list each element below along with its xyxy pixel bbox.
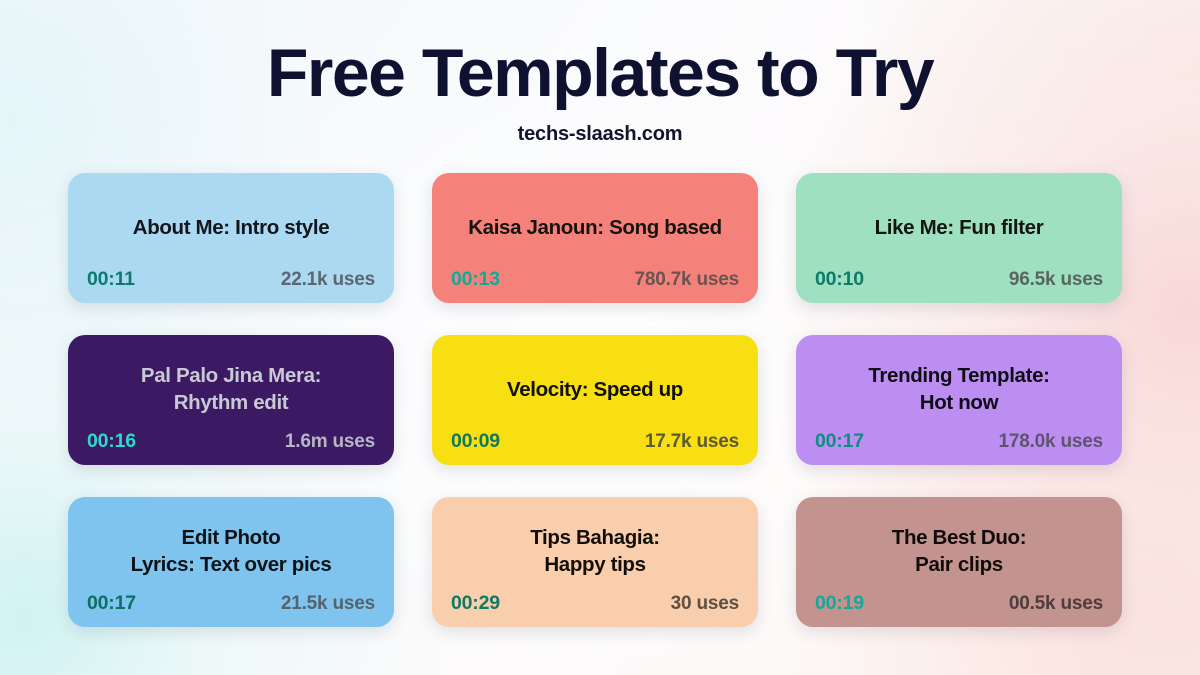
template-uses-count: 21.5k uses [281, 593, 375, 615]
template-card[interactable]: About Me: Intro style00:1122.1k uses [68, 173, 394, 303]
site-url-label: techs-slaash.com [0, 123, 1200, 146]
template-grid: About Me: Intro style00:1122.1k usesKais… [68, 173, 1132, 627]
template-card[interactable]: Tips Bahagia: Happy tips00:2930 uses [432, 497, 758, 627]
page-title: Free Templates to Try [0, 38, 1200, 109]
template-uses-count: 22.1k uses [281, 269, 375, 291]
template-uses-count: 96.5k uses [1009, 269, 1103, 291]
page-root: Free Templates to Try techs-slaash.com A… [0, 0, 1200, 675]
template-card[interactable]: Pal Palo Jina Mera: Rhythm edit00:161.6m… [68, 335, 394, 465]
template-duration: 00:19 [815, 592, 864, 615]
template-card-meta: 00:2930 uses [451, 592, 739, 615]
page-header: Free Templates to Try techs-slaash.com [0, 0, 1200, 146]
template-card-meta: 00:1122.1k uses [87, 268, 375, 291]
template-card-title: Trending Template: Hot now [815, 348, 1103, 430]
template-card-meta: 00:161.6m uses [87, 430, 375, 453]
template-duration: 00:13 [451, 268, 500, 291]
template-card-title: Like Me: Fun filter [815, 186, 1103, 268]
template-duration: 00:09 [451, 430, 500, 453]
template-uses-count: 780.7k uses [635, 269, 740, 291]
template-duration: 00:17 [815, 430, 864, 453]
template-uses-count: 17.7k uses [645, 431, 739, 453]
template-card-meta: 00:1096.5k uses [815, 268, 1103, 291]
template-card[interactable]: Trending Template: Hot now00:17178.0k us… [796, 335, 1122, 465]
template-uses-count: 00.5k uses [1009, 593, 1103, 615]
template-card-meta: 00:1721.5k uses [87, 592, 375, 615]
template-uses-count: 1.6m uses [285, 431, 375, 453]
template-card[interactable]: Kaisa Janoun: Song based00:13780.7k uses [432, 173, 758, 303]
template-uses-count: 178.0k uses [999, 431, 1104, 453]
template-card-meta: 00:17178.0k uses [815, 430, 1103, 453]
template-duration: 00:11 [87, 268, 135, 291]
template-card[interactable]: Like Me: Fun filter00:1096.5k uses [796, 173, 1122, 303]
template-card-title: Tips Bahagia: Happy tips [451, 510, 739, 592]
template-card-title: Edit Photo Lyrics: Text over pics [87, 510, 375, 592]
template-uses-count: 30 uses [671, 593, 739, 615]
template-card-meta: 00:0917.7k uses [451, 430, 739, 453]
template-duration: 00:17 [87, 592, 136, 615]
template-card-title: About Me: Intro style [87, 186, 375, 268]
template-card-meta: 00:1900.5k uses [815, 592, 1103, 615]
template-card-title: Velocity: Speed up [451, 348, 739, 430]
template-card[interactable]: The Best Duo: Pair clips00:1900.5k uses [796, 497, 1122, 627]
template-card[interactable]: Edit Photo Lyrics: Text over pics00:1721… [68, 497, 394, 627]
template-duration: 00:16 [87, 430, 136, 453]
template-duration: 00:29 [451, 592, 500, 615]
template-card-title: Kaisa Janoun: Song based [451, 186, 739, 268]
template-card-title: Pal Palo Jina Mera: Rhythm edit [87, 348, 375, 430]
template-duration: 00:10 [815, 268, 864, 291]
template-card-title: The Best Duo: Pair clips [815, 510, 1103, 592]
template-card-meta: 00:13780.7k uses [451, 268, 739, 291]
template-card[interactable]: Velocity: Speed up00:0917.7k uses [432, 335, 758, 465]
